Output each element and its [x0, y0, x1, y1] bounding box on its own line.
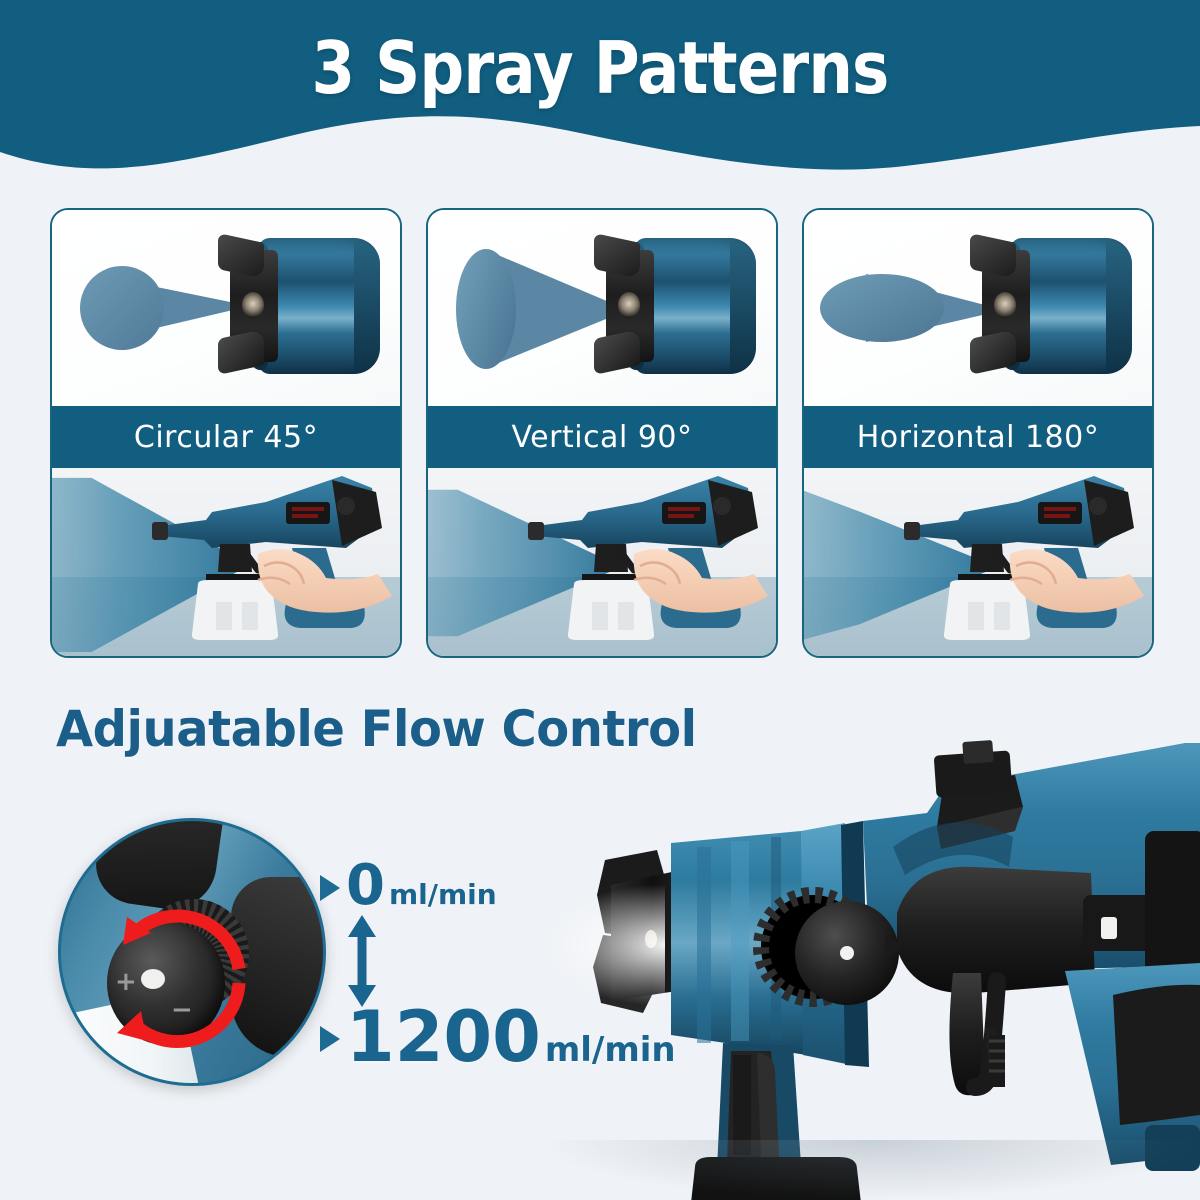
flow-max-value: 1200 — [346, 1002, 541, 1072]
floor-shadow — [540, 1140, 1200, 1200]
rotation-arrows-icon — [89, 899, 269, 1069]
flow-control-knob-icon: + − — [58, 818, 326, 1086]
spray-gun-in-hand-icon — [898, 468, 1148, 652]
flow-min-row: 0 ml/min — [320, 858, 497, 914]
header-banner: 3 Spray Patterns — [0, 0, 1200, 190]
pattern-label-horizontal: Horizontal 180° — [804, 406, 1152, 468]
card-demo-horizontal — [804, 468, 1152, 656]
double-arrow-vertical-icon — [342, 915, 382, 1007]
pattern-label-circular: Circular 45° — [52, 406, 400, 468]
flow-min-unit: ml/min — [389, 881, 497, 909]
motor-housing — [863, 740, 1200, 993]
card-top-illustration — [804, 210, 1152, 406]
trigger — [949, 973, 1005, 1095]
spray-gun-in-hand-icon — [146, 468, 396, 652]
nozzle-cap-icon — [968, 230, 1136, 382]
pattern-label-vertical: Vertical 90° — [428, 406, 776, 468]
spray-pattern-cards: Circular 45° — [50, 208, 1154, 658]
card-demo-vertical — [428, 468, 776, 656]
triangle-marker-icon — [320, 1026, 340, 1052]
card-demo-circular — [52, 468, 400, 656]
triangle-marker-icon — [320, 875, 340, 901]
pattern-card-circular[interactable]: Circular 45° — [50, 208, 402, 658]
card-top-illustration — [428, 210, 776, 406]
nozzle-cap-icon — [592, 230, 760, 382]
pattern-card-vertical[interactable]: Vertical 90° — [426, 208, 778, 658]
spray-gun-product-photo — [545, 735, 1200, 1200]
flow-min-value: 0 — [346, 858, 385, 914]
spray-gun-in-hand-icon — [522, 468, 772, 652]
card-top-illustration — [52, 210, 400, 406]
pattern-card-horizontal[interactable]: Horizontal 180° — [802, 208, 1154, 658]
page-title: 3 Spray Patterns — [78, 26, 1122, 110]
nozzle-cap-icon — [216, 230, 384, 382]
wave-divider-icon — [0, 100, 1200, 190]
